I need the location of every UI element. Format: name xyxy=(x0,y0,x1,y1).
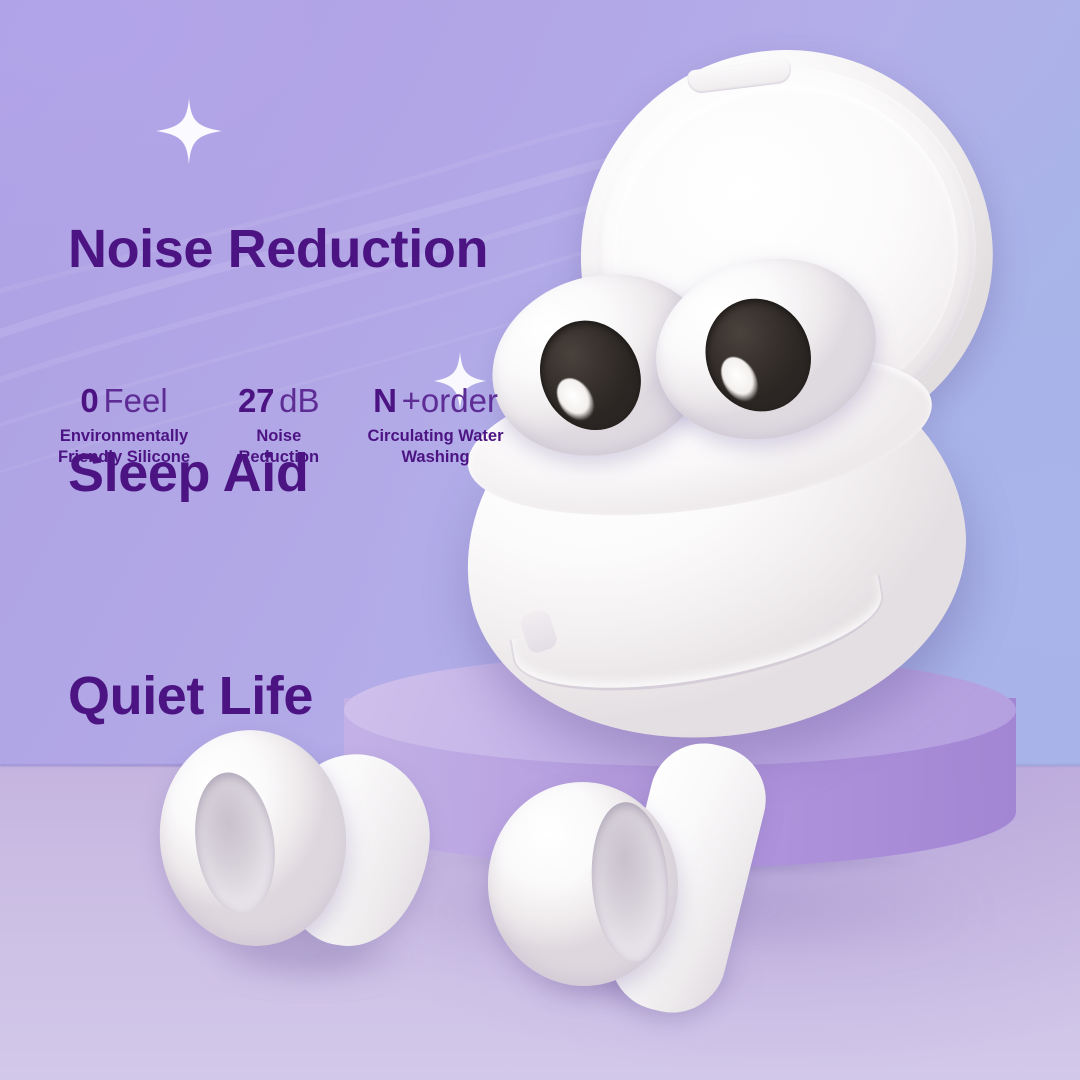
earplug-charging-case xyxy=(455,48,1035,738)
feature-stat-unit: +order xyxy=(402,382,498,419)
feature-stat-label: Environmentally Friendly Silicone xyxy=(58,426,190,468)
feature-stat-number: N xyxy=(373,382,397,419)
feature-stat-feel: 0Feel Environmentally Friendly Silicone xyxy=(58,383,190,468)
feature-stat-unit: Feel xyxy=(103,382,167,419)
loose-earplug-right xyxy=(480,736,800,1036)
headline-line-3: Quiet Life xyxy=(68,659,488,734)
product-advertisement-image: Noise Reduction Sleep Aid Quiet Life 0Fe… xyxy=(0,0,1080,1080)
feature-stat-value: 27dB xyxy=(238,383,319,420)
feature-stat-washing: N+order Circulating Water Washing xyxy=(368,383,504,468)
feature-stat-number: 27 xyxy=(238,382,274,419)
feature-stats-row: 0Feel Environmentally Friendly Silicone … xyxy=(58,383,504,468)
feature-stat-value: 0Feel xyxy=(58,383,190,420)
feature-stat-noise-reduction: 27dB Noise Reduction xyxy=(238,383,319,468)
feature-stat-value: N+order xyxy=(368,383,504,420)
page-title: Noise Reduction Sleep Aid Quiet Life xyxy=(68,63,488,883)
case-body-seam xyxy=(509,575,892,714)
feature-stat-unit: dB xyxy=(279,382,319,419)
headline-line-1: Noise Reduction xyxy=(68,212,488,287)
feature-stat-number: 0 xyxy=(80,382,98,419)
feature-stat-label: Circulating Water Washing xyxy=(368,426,504,468)
feature-stat-label: Noise Reduction xyxy=(238,426,319,468)
